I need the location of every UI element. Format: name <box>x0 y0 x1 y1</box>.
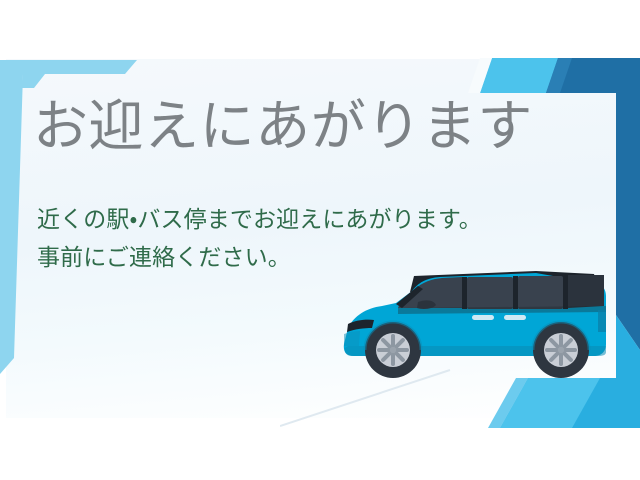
page-title: お迎えにあがります <box>33 97 533 156</box>
promo-banner: お迎えにあがります 近くの駅・バス停までお迎えにあがります。 事前にご連絡くださ… <box>0 0 640 480</box>
description-line-1: 近くの駅・バス停までお迎えにあがります。 <box>37 200 482 238</box>
minivan-illustration <box>322 258 614 384</box>
